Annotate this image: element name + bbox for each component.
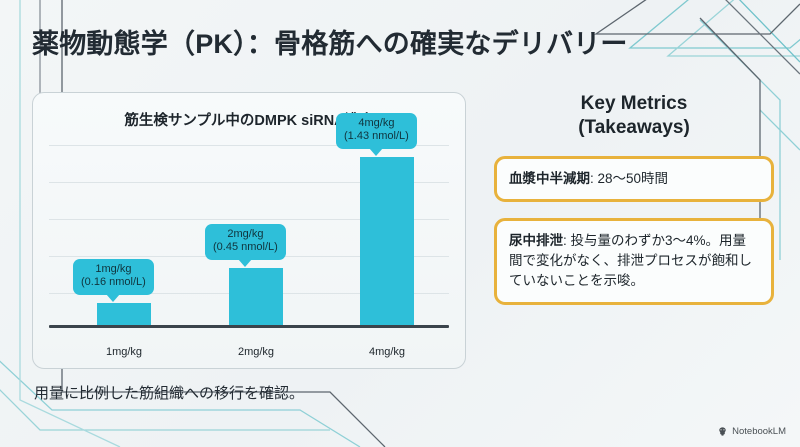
chart-card: 筋生検サンプル中のDMPK siRNA濃度 1mg/kg (0.16 nmol/… [32, 92, 466, 369]
chart-plot-area: 1mg/kg (0.16 nmol/L) 2mg/kg (0.45 nmol/L… [49, 141, 449, 328]
key-metrics-heading: Key Metrics (Takeaways) [539, 92, 729, 140]
callout-dose: 1mg/kg [81, 263, 146, 277]
callout-value: (0.16 nmol/L) [81, 276, 146, 290]
metric-separator: : [563, 233, 571, 248]
metric-key: 尿中排泄 [509, 233, 563, 248]
key-metrics-panel: Key Metrics (Takeaways) 血漿中半減期: 28〜50時間 … [494, 92, 774, 305]
notebooklm-label: NotebookLM [732, 426, 786, 437]
metric-separator: : [590, 171, 598, 186]
callout-value: (1.43 nmol/L) [344, 130, 409, 144]
x-tick-label-2: 2mg/kg [206, 346, 306, 358]
bar-2mgkg[interactable] [229, 268, 283, 325]
x-axis-line [49, 325, 449, 328]
bar-1mgkg[interactable] [97, 303, 151, 325]
slide-caption: 用量に比例した筋組織への移行を確認。 [34, 382, 304, 403]
bar-callout-4mgkg: 4mg/kg (1.43 nmol/L) [336, 113, 417, 150]
metric-card-urinary-excretion[interactable]: 尿中排泄: 投与量のわずか3〜4%。用量間で変化がなく、排泄プロセスが飽和してい… [494, 218, 774, 305]
metric-value: 28〜50時間 [598, 171, 669, 186]
bar-callout-2mgkg: 2mg/kg (0.45 nmol/L) [205, 224, 286, 261]
notebooklm-watermark: NotebookLM [717, 426, 786, 437]
metric-key: 血漿中半減期 [509, 171, 590, 186]
notebooklm-logo-icon [717, 426, 728, 437]
key-metrics-heading-line1: Key Metrics [539, 92, 729, 116]
callout-dose: 4mg/kg [344, 117, 409, 131]
callout-value: (0.45 nmol/L) [213, 241, 278, 255]
key-metrics-heading-line2: (Takeaways) [539, 116, 729, 140]
x-tick-label-1: 1mg/kg [74, 346, 174, 358]
x-tick-label-3: 4mg/kg [337, 346, 437, 358]
page-title: 薬物動態学（PK）：骨格筋への確実なデリバリー [32, 22, 628, 61]
metric-card-half-life[interactable]: 血漿中半減期: 28〜50時間 [494, 156, 774, 202]
bar-4mgkg[interactable] [360, 157, 414, 325]
callout-dose: 2mg/kg [213, 228, 278, 242]
slide-canvas: 薬物動態学（PK）：骨格筋への確実なデリバリー 筋生検サンプル中のDMPK si… [0, 0, 800, 447]
bar-callout-1mgkg: 1mg/kg (0.16 nmol/L) [73, 259, 154, 296]
